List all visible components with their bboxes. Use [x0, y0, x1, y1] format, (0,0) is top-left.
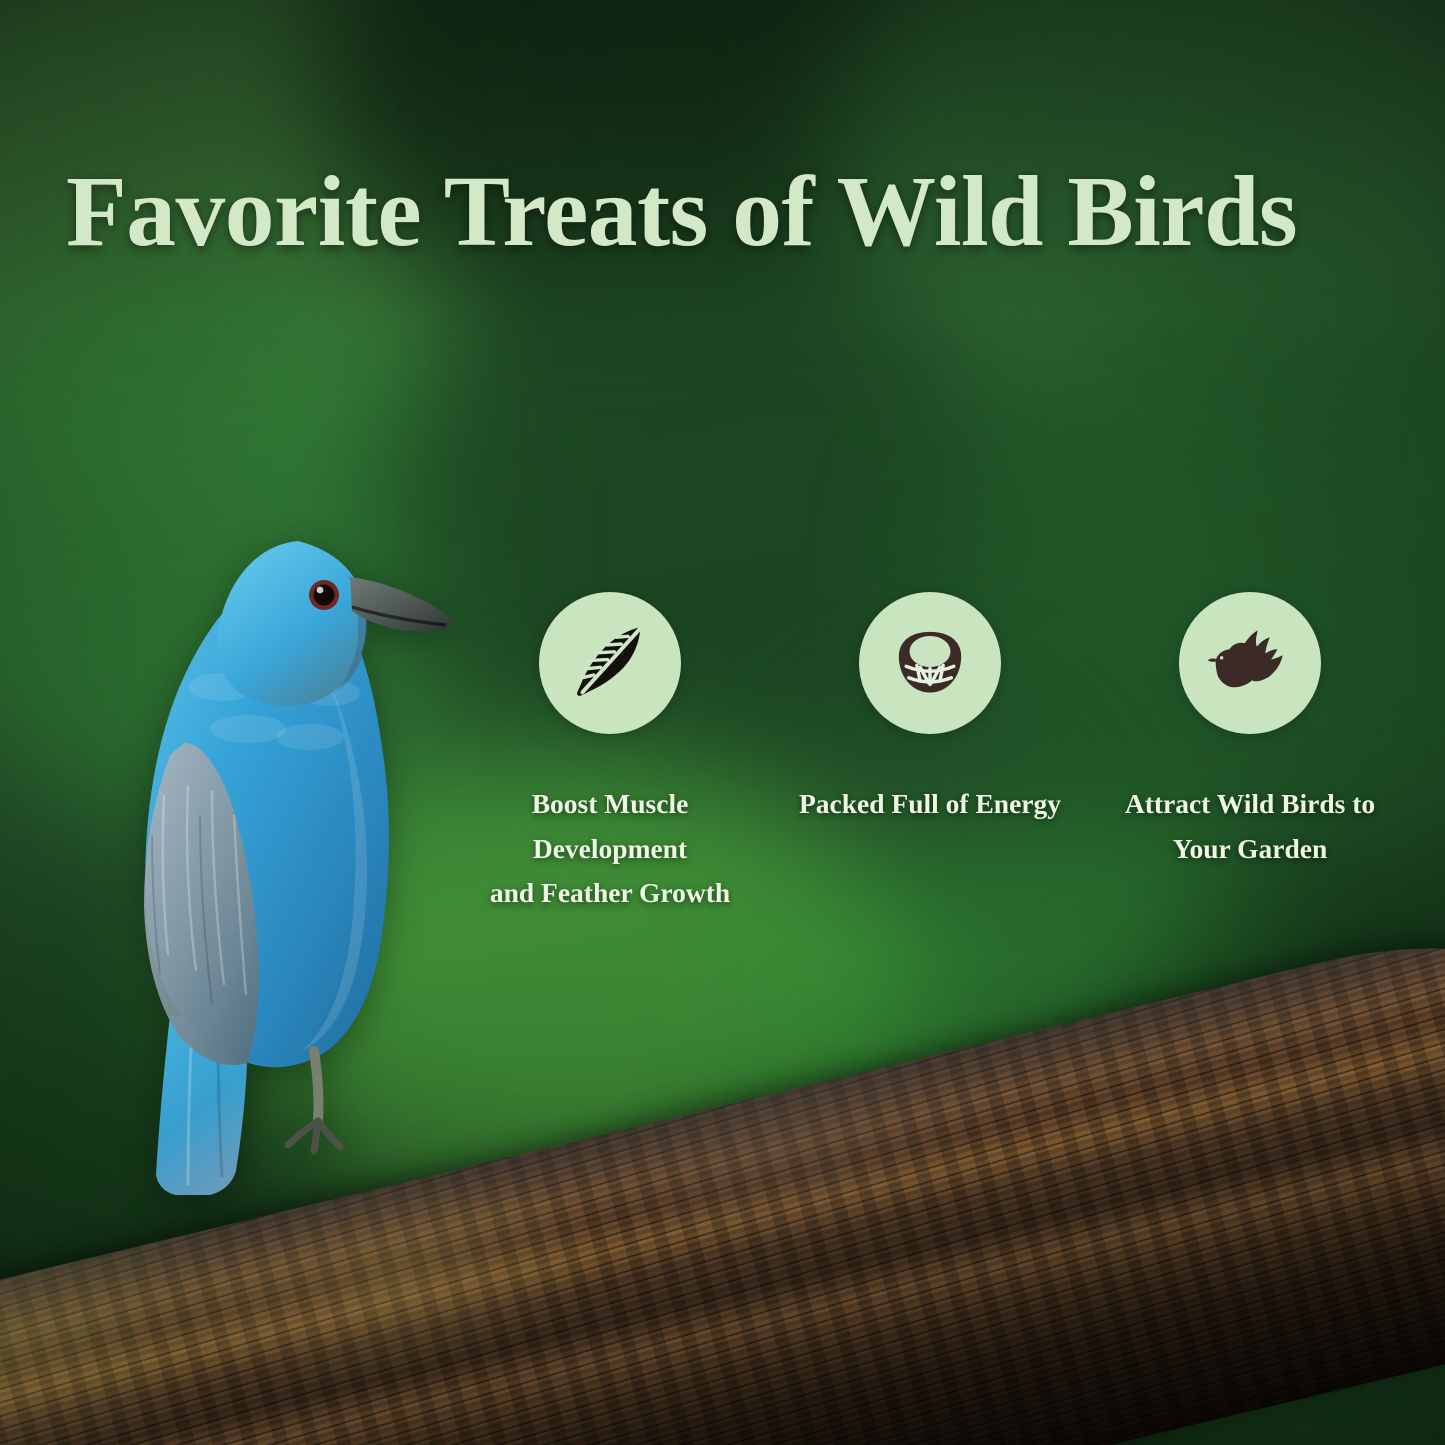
feature-label-line: Attract Wild Birds to — [1125, 782, 1375, 827]
feature-item-attract-birds[interactable]: Attract Wild Birds to Your Garden — [1090, 592, 1410, 916]
page-title: Favorite Treats of Wild Birds — [66, 160, 1366, 263]
feature-label: Packed Full of Energy — [799, 782, 1061, 827]
feature-label-line: Packed Full of Energy — [799, 782, 1061, 827]
feature-label: Boost Muscle Development and Feather Gro… — [490, 782, 730, 916]
product-lifestyle-banner: Favorite Treats of Wild Birds — [0, 0, 1445, 1445]
flying-bird-icon-badge — [1179, 592, 1321, 734]
flying-bird-icon — [1207, 620, 1293, 706]
feature-item-boost-muscle[interactable]: Boost Muscle Development and Feather Gro… — [450, 592, 770, 916]
nest-icon-badge — [859, 592, 1001, 734]
feature-item-packed-energy[interactable]: Packed Full of Energy — [770, 592, 1090, 916]
feature-label-line: Your Garden — [1125, 827, 1375, 872]
feature-label-line: and Feather Growth — [490, 871, 730, 916]
blue-bird-photo — [52, 455, 472, 1195]
feature-label: Attract Wild Birds to Your Garden — [1125, 782, 1375, 871]
feature-list: Boost Muscle Development and Feather Gro… — [450, 592, 1410, 916]
feature-label-line: Boost Muscle — [490, 782, 730, 827]
feather-icon-badge — [539, 592, 681, 734]
nest-icon — [889, 622, 971, 704]
feather-icon — [567, 620, 653, 706]
feature-label-line: Development — [490, 827, 730, 872]
